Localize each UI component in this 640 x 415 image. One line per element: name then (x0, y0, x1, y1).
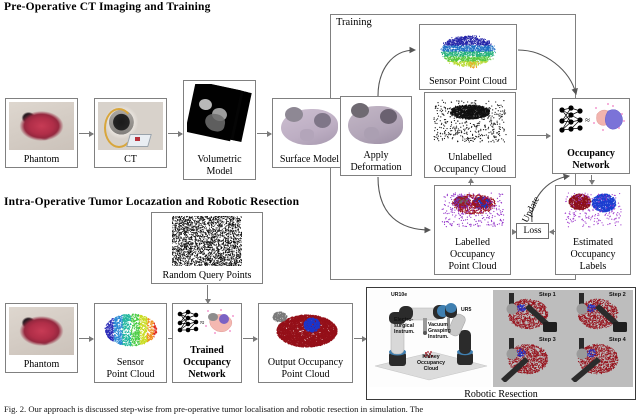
node-apply-deformation[interactable]: Apply Deformation (340, 96, 412, 176)
loss-label: Loss (524, 226, 542, 236)
kidney-surface-mesh-thumb (276, 102, 343, 150)
node-estimated-occupancy-labels[interactable]: Estimated Occupancy Labels (555, 185, 631, 275)
tag-ur10e: UR10e (391, 292, 407, 298)
arrow-ct-to-volumetric (168, 133, 182, 134)
node-unlabelled-occupancy-cloud[interactable]: Unlabelled Occupancy Cloud (424, 92, 516, 178)
node-surface-model[interactable]: Surface Model (272, 98, 347, 168)
section-title-preop: Pre-Operative CT Imaging and Training (4, 1, 211, 13)
node-sensor-2-label-2: Point Cloud (106, 368, 154, 380)
labelled-occupancy-scatter-thumb (438, 189, 507, 231)
robotic-resection-caption: Robotic Resection (367, 389, 635, 402)
ct-slice-stack-thumb (187, 84, 253, 146)
arrow-estimated-to-loss (550, 231, 555, 232)
svg-text:≈: ≈ (585, 115, 590, 125)
node-output-label-1: Output Occupancy (268, 356, 343, 368)
node-random-query-points-label: Random Query Points (163, 269, 252, 281)
node-output-occupancy-point-cloud[interactable]: Output Occupancy Point Cloud (258, 303, 353, 383)
arrow-query-to-trained-network (207, 285, 208, 303)
arrow-output-to-resection (354, 338, 366, 339)
node-trained-label-3: Network (188, 368, 225, 380)
arrow-labelled-to-loss (512, 231, 516, 232)
tag-ur5: UR5 (461, 307, 471, 313)
node-sensor-point-cloud-label: Sensor Point Cloud (429, 75, 507, 87)
deformed-kidney-mesh-thumb (344, 100, 408, 148)
kidney-phantom-photo-thumb (9, 102, 74, 150)
black-scatter-cloud-thumb (428, 96, 512, 144)
node-estimated-label-3: Labels (580, 260, 607, 272)
red-occupancy-cloud-thumb (262, 307, 349, 352)
rainbow-point-cloud-thumb (423, 28, 513, 74)
node-estimated-label-2: Occupancy (571, 248, 616, 260)
node-occupancy-network[interactable]: ≈ Occupancy Network (552, 98, 630, 174)
estimated-labels-scatter-thumb (559, 189, 627, 231)
neural-net-occupancy-thumb: ≈ (556, 102, 626, 140)
robotic-resection-row: UR10e UR5 Electro- surgical Instrum. Vac… (367, 288, 635, 389)
arrow-phantom-to-ct (79, 133, 93, 134)
node-labelled-label-2: Occupancy (450, 248, 495, 260)
trained-network-svg: ≈ (175, 307, 239, 337)
node-sensor-point-cloud-2[interactable]: Sensor Point Cloud (94, 303, 167, 383)
node-sensor-2-label-1: Sensor (117, 356, 144, 368)
resection-steps-grid: Step 1 Step 2 Step 3 Step 4 (493, 290, 633, 387)
node-unlabelled-label-1: Unlabelled (448, 151, 492, 163)
node-unlabelled-label-2: Occupancy Cloud (434, 163, 506, 175)
step-label-3: Step 3 (539, 337, 556, 343)
unlabelled-cloud-svg (428, 96, 512, 144)
step-label-2: Step 2 (609, 292, 626, 298)
node-labelled-occupancy-point-cloud[interactable]: Labelled Occupancy Point Cloud (434, 185, 511, 275)
node-phantom[interactable]: Phantom (5, 98, 78, 168)
node-trained-label-2: Occupancy (183, 356, 231, 368)
node-output-label-2: Point Cloud (281, 368, 329, 380)
tag-vacuum-l3: Instrum. (428, 334, 448, 340)
node-surface-model-label: Surface Model (280, 153, 339, 165)
node-apply-deformation-label-1: Apply (364, 149, 389, 161)
arrow-phantom2-to-sensor2 (79, 338, 93, 339)
step-label-1: Step 1 (539, 292, 556, 298)
node-estimated-label-1: Estimated (573, 236, 613, 248)
section-title-intraop: Intra-Operative Tumor Locazation and Rob… (4, 196, 299, 208)
node-trained-label-1: Trained (190, 344, 224, 356)
arrow-labelled-to-unlabelled (470, 179, 471, 186)
robotic-resection-panel[interactable]: UR10e UR5 Electro- surgical Instrum. Vac… (366, 287, 636, 400)
node-volumetric-model-label-1: Volumetric (197, 153, 241, 165)
node-labelled-label-3: Point Cloud (448, 260, 496, 272)
node-phantom-2[interactable]: Phantom (5, 303, 78, 373)
robot-arms-scene: UR10e UR5 Electro- surgical Instrum. Vac… (369, 290, 491, 387)
node-trained-occupancy-network[interactable]: ≈ Trained Occupancy Network (172, 303, 242, 383)
node-ct-label: CT (124, 153, 137, 165)
node-occupancy-network-label-1: Occupancy (567, 147, 615, 159)
node-labelled-label-1: Labelled (455, 236, 490, 248)
kidney-phantom-photo-thumb-2 (9, 307, 74, 355)
node-ct[interactable]: CT (94, 98, 167, 168)
step-label-4: Step 4 (609, 337, 626, 343)
node-volumetric-model-label-2: Model (206, 165, 232, 177)
occupancy-network-svg: ≈ (556, 102, 626, 140)
resection-steps-svg (493, 290, 633, 382)
node-phantom-2-label: Phantom (24, 358, 60, 370)
node-phantom-label: Phantom (24, 153, 60, 165)
arrow-trained-to-output (243, 338, 257, 339)
arrow-unlabelled-to-network (517, 135, 550, 136)
training-group-label: Training (336, 17, 372, 28)
arrow-network-to-estimated (591, 175, 592, 184)
node-volumetric-model[interactable]: Volumetric Model (183, 80, 256, 180)
tag-electrosurgical-l3: Instrum. (394, 329, 414, 335)
figure-caption: Fig. 2. Our approach is discussed step-w… (4, 404, 423, 414)
sensor-cloud-2-svg (98, 307, 164, 353)
loss-box[interactable]: Loss (516, 223, 549, 239)
estimated-labels-svg (559, 189, 627, 231)
node-occupancy-network-label-2: Network (572, 159, 609, 171)
output-cloud-svg (262, 307, 349, 352)
tag-kidney-cloud-l3: Cloud (424, 366, 439, 372)
node-apply-deformation-label-2: Deformation (350, 161, 401, 173)
node-sensor-point-cloud[interactable]: Sensor Point Cloud (419, 24, 517, 90)
random-query-scatter-thumb (172, 216, 242, 266)
ct-scanner-photo-thumb (98, 102, 163, 150)
random-query-svg (172, 216, 242, 266)
rainbow-point-cloud-2d-thumb (98, 307, 164, 353)
node-random-query-points[interactable]: Random Query Points (151, 212, 263, 284)
labelled-scatter-svg (438, 189, 507, 231)
neural-net-occupancy-thumb-2: ≈ (175, 307, 239, 337)
sensor-point-cloud-svg (423, 28, 513, 74)
arrow-volumetric-to-surface (257, 133, 271, 134)
